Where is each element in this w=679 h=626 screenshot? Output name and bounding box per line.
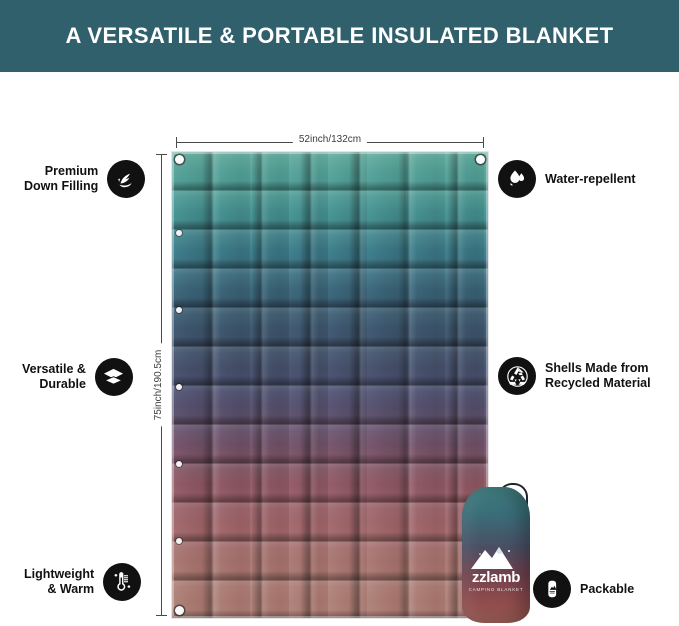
dimension-cap-right: [483, 137, 484, 148]
layers-icon: [95, 358, 133, 396]
grommet: [175, 155, 184, 164]
feature-label: Packable: [580, 582, 634, 597]
height-dimension-label: 75inch/190.5cm: [151, 344, 167, 427]
width-dimension: 52inch/132cm: [176, 131, 484, 149]
blanket-product-image: [172, 152, 488, 618]
quilt-seams-horizontal: [172, 152, 488, 618]
sack-brand-name: zzlamb: [462, 569, 530, 586]
feature-lightweight-warm: Lightweight & Warm: [24, 563, 141, 601]
page-title: A VERSATILE & PORTABLE INSULATED BLANKET: [65, 23, 613, 49]
feature-premium-down-filling: Premium Down Filling: [24, 160, 145, 198]
blanket-edge: [172, 152, 488, 618]
grommet: [176, 461, 182, 467]
sack-tagline: CAMPING BLANKET: [462, 587, 530, 592]
dimension-cap-left: [176, 137, 177, 148]
grommet: [175, 606, 184, 615]
grommet: [176, 230, 182, 236]
grommet: [176, 307, 182, 313]
feature-packable: Packable: [533, 570, 634, 608]
quilt-seams-vertical: [172, 152, 488, 618]
thermometer-icon: [103, 563, 141, 601]
dimension-cap-top: [156, 154, 167, 155]
infographic-page: A VERSATILE & PORTABLE INSULATED BLANKET…: [0, 0, 679, 626]
quilt-sheen: [172, 152, 488, 618]
feature-versatile-durable: Versatile & Durable: [22, 358, 133, 396]
feature-water-repellent: Water-repellent: [498, 160, 636, 198]
mountain-logo-icon: [469, 543, 523, 569]
stuff-sack-image: zzlamb CAMPING BLANKET: [462, 487, 530, 623]
grommet: [476, 155, 485, 164]
grommet: [176, 538, 182, 544]
grommet: [176, 384, 182, 390]
feature-label: Versatile & Durable: [22, 362, 86, 392]
feature-label: Shells Made from Recycled Material: [545, 361, 651, 391]
height-dimension: 75inch/190.5cm: [150, 154, 168, 616]
recycle-icon: [498, 357, 536, 395]
dimension-cap-bottom: [156, 615, 167, 616]
feature-label: Water-repellent: [545, 172, 636, 187]
feather-down-icon: [107, 160, 145, 198]
feature-label: Lightweight & Warm: [24, 567, 94, 597]
feature-label: Premium Down Filling: [24, 164, 98, 194]
header-banner: A VERSATILE & PORTABLE INSULATED BLANKET: [0, 0, 679, 72]
stuff-sack-icon: [533, 570, 571, 608]
width-dimension-label: 52inch/132cm: [293, 131, 367, 149]
water-drop-icon: [498, 160, 536, 198]
feature-recycled-material: Shells Made from Recycled Material: [498, 357, 651, 395]
